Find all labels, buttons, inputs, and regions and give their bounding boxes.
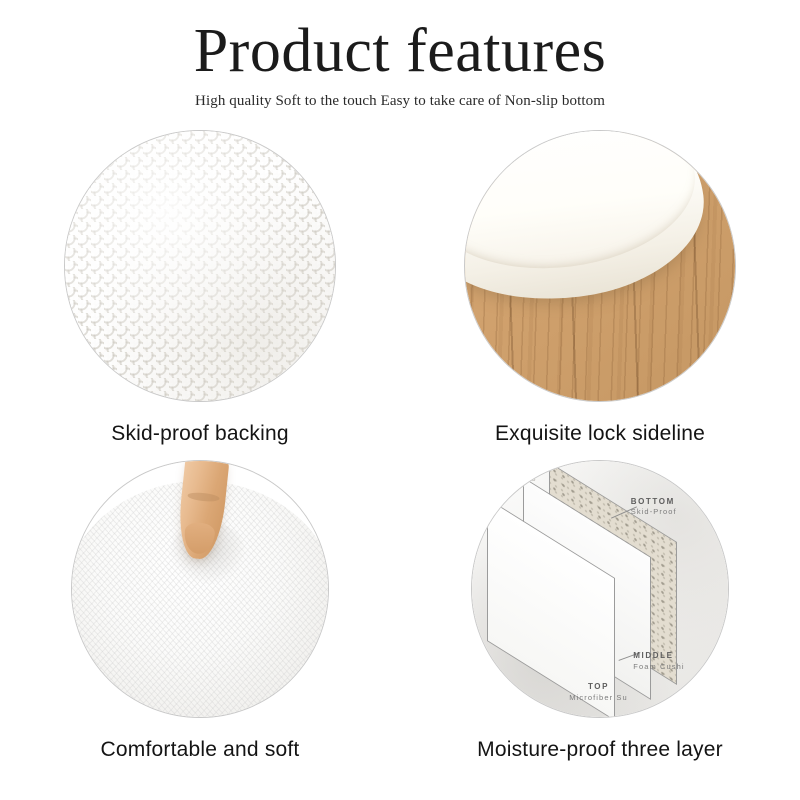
page-title: Product features: [0, 18, 800, 85]
feature-grid: Skid-proof backing Exquisite lock sideli…: [0, 130, 800, 780]
feature-image-skid-proof-backing: [64, 130, 336, 402]
feature-card-comfortable-and-soft[interactable]: Comfortable and soft: [0, 460, 400, 780]
feature-card-exquisite-lock-sideline[interactable]: Exquisite lock sideline: [400, 130, 800, 460]
page-subtitle: High quality Soft to the touch Easy to t…: [0, 93, 800, 110]
mat-on-wood-scene: [465, 131, 735, 401]
layer-label-bottom-desc: Skid-Proof: [631, 507, 677, 518]
layer-label-bottom-name: BOTTOM: [631, 496, 677, 508]
layer-label-top: TOP Microfiber Su: [569, 681, 627, 703]
layer-label-top-name: TOP: [569, 681, 627, 693]
layer-label-middle-desc: Foam Cushi: [633, 662, 684, 673]
feature-caption: Exquisite lock sideline: [495, 422, 705, 446]
page-header: Product features High quality Soft to th…: [0, 0, 800, 110]
feature-card-skid-proof-backing[interactable]: Skid-proof backing: [0, 130, 400, 460]
feature-card-moisture-proof-three-layer[interactable]: Products BOTTOM Skid-Proof MIDDLE Foam C…: [400, 460, 800, 780]
layer-label-middle: MIDDLE Foam Cushi: [633, 650, 684, 672]
feature-image-exquisite-lock-sideline: [464, 130, 736, 402]
feature-caption: Moisture-proof three layer: [477, 738, 723, 762]
finger-press-scene: [72, 461, 328, 717]
feature-caption: Comfortable and soft: [101, 738, 300, 762]
feature-image-moisture-proof-three-layer: Products BOTTOM Skid-Proof MIDDLE Foam C…: [471, 460, 729, 718]
feature-image-comfortable-and-soft: [71, 460, 329, 718]
three-layer-diagram: Products BOTTOM Skid-Proof MIDDLE Foam C…: [472, 461, 728, 717]
dotted-backing-texture: [65, 131, 335, 401]
layer-label-bottom: BOTTOM Skid-Proof: [631, 496, 677, 518]
layer-label-middle-name: MIDDLE: [633, 650, 684, 662]
layer-label-top-desc: Microfiber Su: [569, 693, 627, 704]
feature-caption: Skid-proof backing: [111, 422, 289, 446]
